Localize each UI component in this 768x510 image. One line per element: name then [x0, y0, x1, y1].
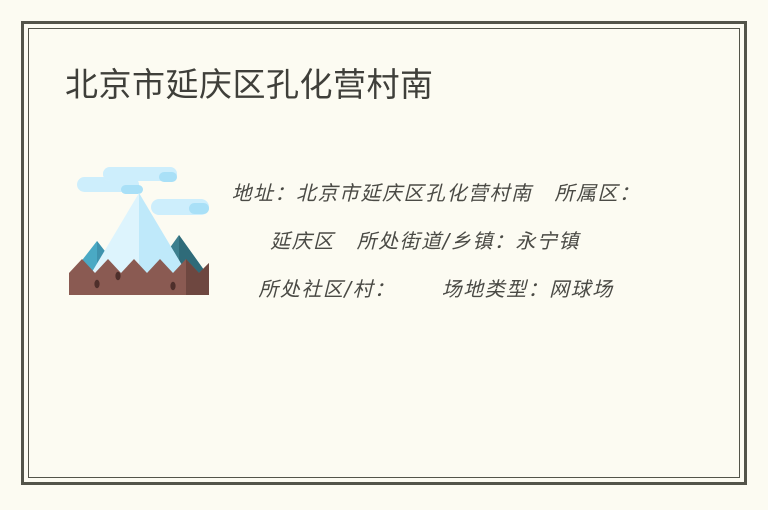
detail-street: 所处街道/乡镇：永宁镇 — [357, 229, 580, 253]
detail-street-value: 永宁镇 — [515, 229, 580, 253]
detail-address-label: 地址： — [232, 181, 297, 205]
detail-district-value: 延庆区 — [270, 229, 335, 253]
detail-address-value: 北京市延庆区孔化营村南 — [296, 181, 533, 205]
detail-type: 场地类型：网球场 — [442, 277, 614, 301]
page-title: 北京市延庆区孔化营村南 — [65, 65, 434, 105]
info-card: 北京市延庆区孔化营村南 — [21, 21, 747, 485]
detail-district-label: 所属区： — [555, 181, 641, 205]
mountain-illustration — [63, 155, 215, 307]
detail-address: 地址：北京市延庆区孔化营村南 — [232, 181, 533, 205]
info-card-inner-border: 北京市延庆区孔化营村南 — [28, 28, 740, 478]
detail-community-label: 所处社区/村： — [258, 277, 395, 301]
detail-type-value: 网球场 — [549, 277, 614, 301]
detail-type-label: 场地类型： — [442, 277, 550, 301]
venue-details: 地址：北京市延庆区孔化营村南所属区：延庆区所处街道/乡镇：永宁镇所处社区/村：场… — [227, 169, 645, 313]
detail-street-label: 所处街道/乡镇： — [357, 229, 516, 253]
detail-community: 所处社区/村： — [258, 277, 395, 301]
